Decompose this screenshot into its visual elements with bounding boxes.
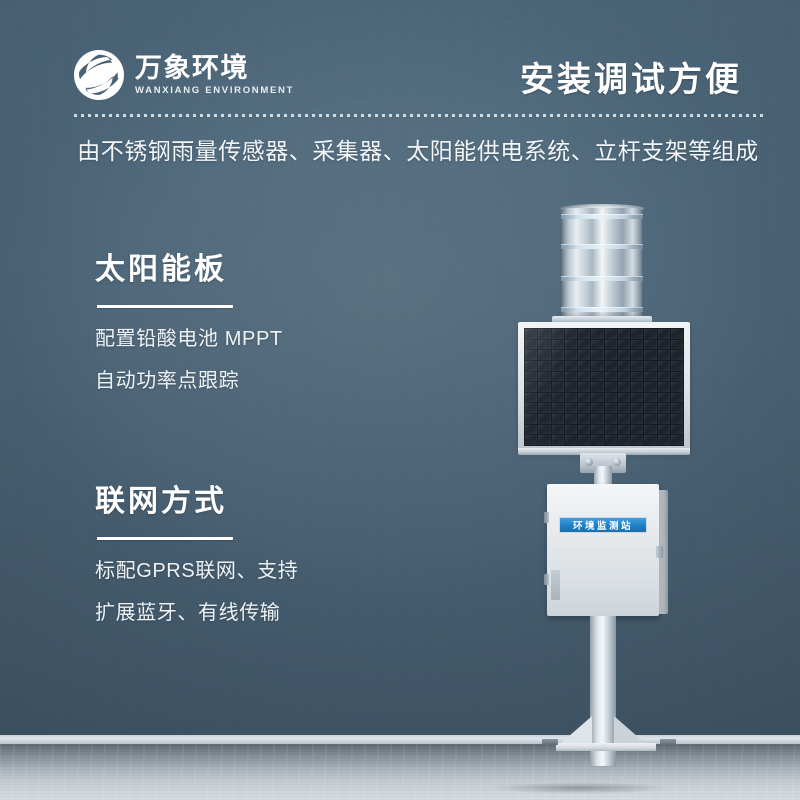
solar-cell bbox=[591, 414, 603, 424]
headline: 安装调试方便 bbox=[520, 52, 742, 101]
solar-cell bbox=[565, 329, 577, 339]
solar-cell bbox=[605, 382, 617, 392]
rain-gauge-band bbox=[561, 276, 643, 281]
solar-cell bbox=[538, 403, 550, 413]
solar-cell bbox=[671, 350, 683, 360]
solar-cell bbox=[591, 361, 603, 371]
solar-cell bbox=[538, 414, 550, 424]
brand-name-cn: 万象环境 bbox=[135, 55, 294, 82]
solar-cell bbox=[525, 329, 537, 339]
solar-cell bbox=[658, 414, 670, 424]
enclosure-label-text: 环境监测站 bbox=[573, 518, 633, 532]
solar-cell bbox=[605, 393, 617, 403]
solar-cell bbox=[591, 435, 603, 445]
solar-cell bbox=[538, 372, 550, 382]
solar-cell bbox=[591, 403, 603, 413]
solar-cell bbox=[631, 425, 643, 435]
solar-cell bbox=[671, 361, 683, 371]
solar-cell bbox=[631, 403, 643, 413]
solar-cell bbox=[658, 393, 670, 403]
solar-cell bbox=[591, 372, 603, 382]
solar-cell bbox=[578, 435, 590, 445]
solar-cell bbox=[671, 403, 683, 413]
solar-cell bbox=[552, 329, 564, 339]
solar-cell bbox=[671, 435, 683, 445]
solar-cell bbox=[565, 350, 577, 360]
solar-cell bbox=[538, 361, 550, 371]
solar-cell bbox=[578, 329, 590, 339]
solar-cell bbox=[605, 329, 617, 339]
brand-name-block: 万象环境 WANXIANG ENVIRONMENT bbox=[135, 55, 294, 96]
weather-station-product-photo: 环境监测站 bbox=[500, 196, 720, 796]
solar-cell bbox=[538, 393, 550, 403]
solar-cell bbox=[591, 425, 603, 435]
feature-line: 配置铅酸电池 MPPT bbox=[95, 329, 283, 349]
solar-cell bbox=[605, 340, 617, 350]
solar-cell bbox=[631, 329, 643, 339]
solar-cell bbox=[552, 382, 564, 392]
solar-cell bbox=[591, 350, 603, 360]
solar-cell bbox=[644, 372, 656, 382]
hinge-icon bbox=[544, 512, 549, 523]
solar-cell bbox=[618, 340, 630, 350]
anchor-bolt-left bbox=[542, 739, 558, 745]
pole-gusset-right bbox=[614, 716, 646, 744]
solar-cell bbox=[538, 435, 550, 445]
solar-cell bbox=[631, 414, 643, 424]
solar-cell bbox=[605, 403, 617, 413]
header: 万象环境 WANXIANG ENVIRONMENT 安装调试方便 bbox=[0, 0, 800, 116]
feature-line: 扩展蓝牙、有线传输 bbox=[95, 603, 298, 623]
solar-cell bbox=[525, 425, 537, 435]
solar-cell bbox=[578, 414, 590, 424]
solar-cell bbox=[525, 350, 537, 360]
solar-cell bbox=[552, 393, 564, 403]
bolt-icon bbox=[585, 458, 593, 466]
solar-cell bbox=[578, 350, 590, 360]
solar-cell bbox=[671, 329, 683, 339]
solar-cell bbox=[671, 425, 683, 435]
solar-cell bbox=[658, 340, 670, 350]
brand-logo: 万象环境 WANXIANG ENVIRONMENT bbox=[72, 48, 294, 102]
solar-cell bbox=[552, 414, 564, 424]
solar-cell bbox=[658, 403, 670, 413]
solar-cell bbox=[552, 372, 564, 382]
solar-cell bbox=[591, 393, 603, 403]
enclosure-seam bbox=[551, 570, 560, 600]
solar-cell bbox=[565, 435, 577, 445]
solar-cell bbox=[671, 414, 683, 424]
solar-cell bbox=[565, 425, 577, 435]
solar-cell bbox=[631, 393, 643, 403]
pole-gusset-left bbox=[560, 716, 592, 744]
solar-cell bbox=[591, 340, 603, 350]
solar-cell bbox=[525, 372, 537, 382]
rain-gauge-band bbox=[561, 307, 643, 312]
hinge-icon bbox=[544, 574, 549, 585]
solar-cell bbox=[644, 340, 656, 350]
solar-cell bbox=[644, 393, 656, 403]
solar-cell bbox=[565, 393, 577, 403]
solar-cell bbox=[644, 382, 656, 392]
feature-block-network: 联网方式 标配GPRS联网、支持 扩展蓝牙、有线传输 bbox=[95, 484, 298, 623]
enclosure-label: 环境监测站 bbox=[559, 517, 647, 533]
solar-cell bbox=[671, 393, 683, 403]
solar-cell bbox=[618, 435, 630, 445]
solar-cell bbox=[618, 425, 630, 435]
solar-cell bbox=[618, 372, 630, 382]
solar-cell bbox=[618, 329, 630, 339]
swirl-globe-logo-icon bbox=[72, 48, 126, 102]
solar-cell bbox=[565, 414, 577, 424]
solar-cell bbox=[552, 425, 564, 435]
solar-cell bbox=[618, 403, 630, 413]
solar-cell bbox=[605, 414, 617, 424]
solar-cell bbox=[565, 372, 577, 382]
solar-cell bbox=[631, 372, 643, 382]
solar-cell bbox=[525, 393, 537, 403]
solar-cell bbox=[618, 393, 630, 403]
subtitle: 由不锈钢雨量传感器、采集器、太阳能供电系统、立杆支架等组成 bbox=[68, 132, 768, 166]
solar-cell bbox=[605, 435, 617, 445]
solar-cell bbox=[658, 425, 670, 435]
feature-underline bbox=[97, 537, 233, 540]
solar-cell bbox=[605, 372, 617, 382]
solar-cell bbox=[578, 403, 590, 413]
feature-title: 太阳能板 bbox=[95, 252, 283, 288]
rain-gauge-band bbox=[561, 244, 643, 249]
solar-cell bbox=[605, 425, 617, 435]
solar-cell bbox=[644, 350, 656, 360]
solar-cell bbox=[618, 382, 630, 392]
solar-cell bbox=[605, 350, 617, 360]
solar-cell bbox=[578, 340, 590, 350]
solar-cell bbox=[618, 414, 630, 424]
solar-cell bbox=[565, 403, 577, 413]
solar-cell bbox=[525, 382, 537, 392]
solar-cell bbox=[552, 435, 564, 445]
solar-panel-cell-grid bbox=[524, 328, 684, 446]
solar-cell bbox=[658, 361, 670, 371]
solar-cell bbox=[538, 329, 550, 339]
solar-cell bbox=[578, 393, 590, 403]
solar-cell bbox=[644, 403, 656, 413]
feature-line: 自动功率点跟踪 bbox=[95, 371, 283, 391]
solar-cell bbox=[578, 382, 590, 392]
solar-cell bbox=[578, 361, 590, 371]
solar-cell bbox=[552, 403, 564, 413]
solar-cell bbox=[538, 425, 550, 435]
solar-cell bbox=[631, 435, 643, 445]
solar-panel bbox=[518, 322, 690, 452]
solar-cell bbox=[525, 403, 537, 413]
brand-name-en: WANXIANG ENVIRONMENT bbox=[135, 86, 294, 96]
feature-underline bbox=[97, 305, 233, 308]
solar-cell bbox=[618, 350, 630, 360]
solar-cell bbox=[565, 361, 577, 371]
anchor-bolt-right bbox=[660, 739, 676, 745]
solar-cell bbox=[538, 350, 550, 360]
solar-cell bbox=[644, 414, 656, 424]
stainless-steel-rain-gauge bbox=[562, 208, 642, 318]
rain-gauge-band bbox=[561, 214, 643, 219]
solar-cell bbox=[565, 340, 577, 350]
solar-cell bbox=[552, 361, 564, 371]
solar-cell bbox=[644, 329, 656, 339]
solar-cell bbox=[631, 350, 643, 360]
solar-cell bbox=[671, 382, 683, 392]
feature-block-solar-panel: 太阳能板 配置铅酸电池 MPPT 自动功率点跟踪 bbox=[95, 252, 283, 391]
solar-cell bbox=[658, 372, 670, 382]
banner-canvas: 万象环境 WANXIANG ENVIRONMENT 安装调试方便 由不锈钢雨量传… bbox=[0, 0, 800, 800]
solar-cell bbox=[538, 382, 550, 392]
solar-cell bbox=[538, 340, 550, 350]
base-plate bbox=[556, 743, 656, 751]
data-logger-enclosure: 环境监测站 bbox=[547, 484, 659, 616]
solar-cell bbox=[644, 361, 656, 371]
solar-cell bbox=[618, 361, 630, 371]
solar-cell bbox=[631, 340, 643, 350]
solar-cell bbox=[552, 340, 564, 350]
solar-cell bbox=[525, 414, 537, 424]
solar-cell bbox=[565, 382, 577, 392]
solar-cell bbox=[578, 425, 590, 435]
solar-cell bbox=[644, 425, 656, 435]
feature-line: 标配GPRS联网、支持 bbox=[95, 561, 298, 581]
solar-cell bbox=[671, 340, 683, 350]
solar-cell bbox=[658, 435, 670, 445]
solar-cell bbox=[671, 372, 683, 382]
solar-cell bbox=[591, 329, 603, 339]
solar-cell bbox=[578, 372, 590, 382]
solar-cell bbox=[552, 350, 564, 360]
bolt-icon bbox=[613, 458, 621, 466]
feature-title: 联网方式 bbox=[95, 484, 298, 520]
solar-cell bbox=[525, 435, 537, 445]
solar-cell bbox=[631, 361, 643, 371]
solar-cell bbox=[525, 340, 537, 350]
solar-cell bbox=[658, 329, 670, 339]
solar-cell bbox=[605, 361, 617, 371]
solar-cell bbox=[658, 350, 670, 360]
dotted-divider bbox=[74, 114, 764, 117]
solar-cell bbox=[525, 361, 537, 371]
solar-cell bbox=[591, 382, 603, 392]
solar-cell bbox=[631, 382, 643, 392]
latch-icon bbox=[656, 546, 663, 558]
solar-cell bbox=[644, 435, 656, 445]
solar-cell bbox=[658, 382, 670, 392]
